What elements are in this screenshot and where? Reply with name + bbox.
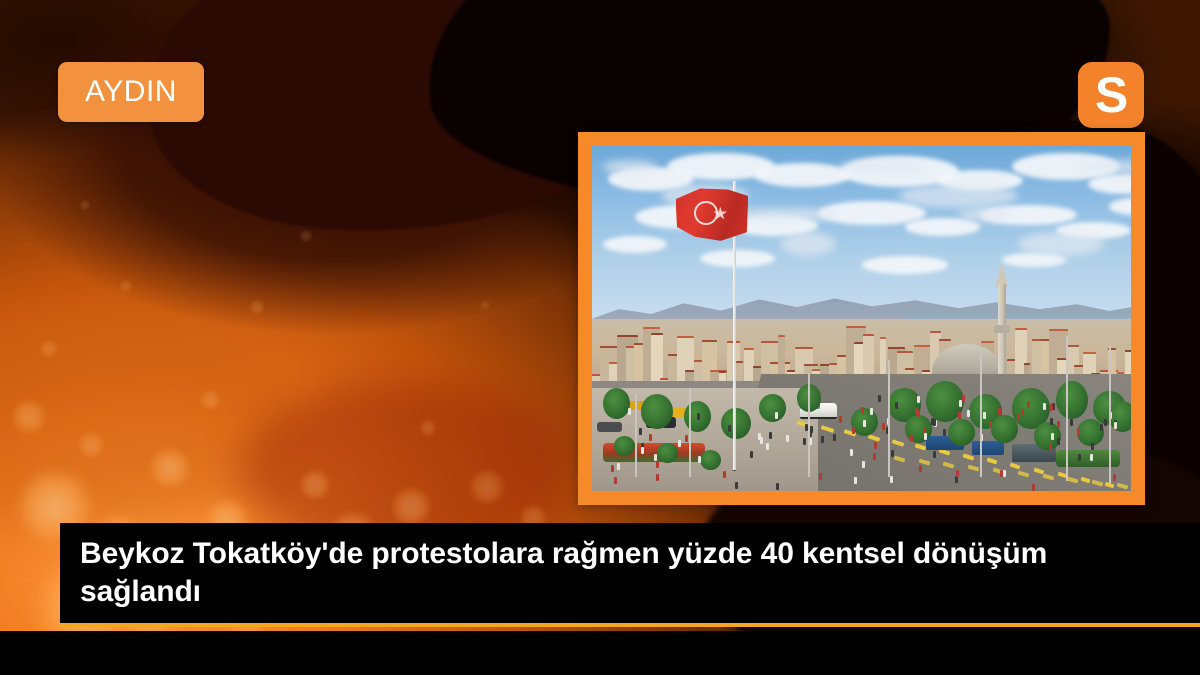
bottom-black-strip [0, 631, 1200, 675]
brand-logo-label: S [1095, 70, 1127, 120]
city-badge: AYDIN [58, 62, 204, 122]
parked-car [597, 422, 621, 432]
bus-stop-shelter [972, 441, 1004, 455]
news-card: AYDIN S [0, 0, 1200, 675]
minaret-balcony [994, 325, 1010, 333]
caption-headline: Beykoz Tokatköy'de protestolara rağmen y… [80, 535, 1140, 610]
photo-frame [578, 132, 1145, 505]
caption-bar: Beykoz Tokatköy'de protestolara rağmen y… [60, 523, 1200, 627]
news-photo [592, 146, 1131, 491]
city-badge-label: AYDIN [85, 77, 177, 107]
brand-logo[interactable]: S [1078, 62, 1144, 128]
